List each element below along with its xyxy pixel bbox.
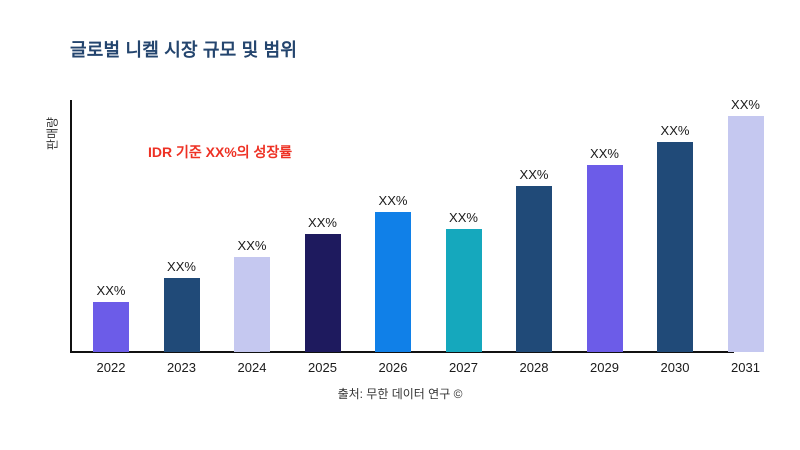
bar[interactable] <box>305 234 341 352</box>
bar-group: XX% <box>78 100 144 352</box>
bar-group: XX% <box>290 100 356 352</box>
source-note: 출처: 무한 데이터 연구 © <box>0 385 800 402</box>
bar-value-label: XX% <box>590 146 619 161</box>
bar-value-label: XX% <box>520 167 549 182</box>
x-tick-2025: 2025 <box>290 360 356 375</box>
bar[interactable] <box>375 212 411 352</box>
bar-group: XX% <box>149 100 215 352</box>
bar-value-label: XX% <box>379 193 408 208</box>
bar[interactable] <box>164 278 200 352</box>
bar-group: XX% <box>501 100 567 352</box>
x-tick-2029: 2029 <box>572 360 638 375</box>
bar-value-label: XX% <box>661 123 690 138</box>
x-tick-2023: 2023 <box>149 360 215 375</box>
bar-value-label: XX% <box>449 210 478 225</box>
bar-value-label: XX% <box>97 283 126 298</box>
x-tick-2026: 2026 <box>360 360 426 375</box>
bar[interactable] <box>587 165 623 352</box>
bar[interactable] <box>728 116 764 352</box>
bar-group: XX% <box>713 100 779 352</box>
x-tick-2030: 2030 <box>642 360 708 375</box>
x-tick-2024: 2024 <box>219 360 285 375</box>
x-tick-2027: 2027 <box>431 360 497 375</box>
x-tick-2028: 2028 <box>501 360 567 375</box>
bar[interactable] <box>234 257 270 352</box>
x-tick-2022: 2022 <box>78 360 144 375</box>
bar-value-label: XX% <box>731 97 760 112</box>
y-axis-label: 판매량 <box>44 74 61 194</box>
bar-group: XX% <box>219 100 285 352</box>
bar-group: XX% <box>642 100 708 352</box>
bar-group: XX% <box>431 100 497 352</box>
bar[interactable] <box>446 229 482 352</box>
bar[interactable] <box>657 142 693 352</box>
bar-value-label: XX% <box>238 238 267 253</box>
chart-title: 글로벌 니켈 시장 규모 및 범위 <box>70 36 297 62</box>
bar-value-label: XX% <box>167 259 196 274</box>
bar[interactable] <box>516 186 552 352</box>
bar-group: XX% <box>360 100 426 352</box>
bar-group: XX% <box>572 100 638 352</box>
y-axis-line <box>70 100 72 353</box>
bar-value-label: XX% <box>308 215 337 230</box>
x-tick-2031: 2031 <box>713 360 779 375</box>
plot-area: XX%XX%XX%XX%XX%XX%XX%XX%XX%XX% 202220232… <box>70 100 786 353</box>
chart-container: 글로벌 니켈 시장 규모 및 범위 판매량 IDR 기준 XX%의 성장률 XX… <box>0 0 800 450</box>
bar[interactable] <box>93 302 129 352</box>
